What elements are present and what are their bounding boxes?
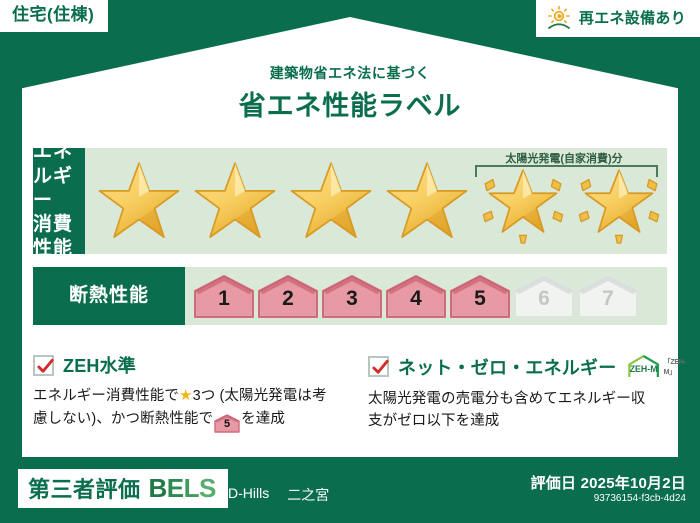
inline-insulation-chip: 5 xyxy=(214,414,240,433)
insulation-level-3: 3 xyxy=(321,273,383,319)
bottom-bar: 第三者評価 BELS D-Hills 二之宮 評価日 2025年10月2日 93… xyxy=(0,457,700,523)
insulation-level-2: 2 xyxy=(257,273,319,319)
energy-label-line2: 消費性能 xyxy=(33,213,85,262)
insulation-level-4: 4 xyxy=(385,273,447,319)
bels-wordmark: BELS xyxy=(149,475,216,501)
insulation-level-4-value: 4 xyxy=(410,288,422,319)
insulation-level-6: 6 xyxy=(513,273,575,319)
insulation-levels-area: 1 2 3 4 xyxy=(185,267,667,325)
evaluation-id: 93736154-f3cb-4d24 xyxy=(594,493,686,504)
bels-letter-s: S xyxy=(199,473,216,503)
insulation-level-5: 5 xyxy=(449,273,511,319)
star-icon xyxy=(288,158,374,244)
solar-portion-caption: 太陽光発電(自家消費)分 xyxy=(469,150,659,166)
insulation-level-7-value: 7 xyxy=(602,288,614,319)
renewable-energy-badge: 再エネ設備あり xyxy=(536,0,700,37)
zeh-m-house-icon: ZEH-M xyxy=(626,352,661,381)
energy-consumption-row-label: エネルギー 消費性能 xyxy=(33,148,85,254)
energy-stars-area: 太陽光発電(自家消費)分 xyxy=(85,148,667,254)
zeh-checkbox[interactable] xyxy=(33,355,54,376)
criteria-zeh: ZEH水準 エネルギー消費性能で★3つ (太陽光発電は考慮しない)、かつ断熱性能… xyxy=(33,352,350,433)
insulation-row-label: 断熱性能 xyxy=(33,267,185,325)
criteria-net-zero-header: ネット・ゼロ・エネルギー ZEH-M 「ZEH-M」 xyxy=(368,352,657,381)
net-zero-checkbox[interactable] xyxy=(368,356,389,377)
insulation-level-3-value: 3 xyxy=(346,288,358,319)
sun-renewable-icon xyxy=(546,5,572,31)
inline-chip-value: 5 xyxy=(214,414,240,435)
criteria-net-zero: ネット・ゼロ・エネルギー ZEH-M 「ZEH-M」 太陽光発電の売電分も含めて… xyxy=(350,352,667,433)
bels-letter-l: L xyxy=(184,473,199,503)
evaluation-date: 評価日 2025年10月2日 xyxy=(531,472,686,493)
building-identity: D-Hills 二之宮 xyxy=(228,485,329,505)
energy-star-4 xyxy=(379,151,475,251)
energy-star-1 xyxy=(91,151,187,251)
insulation-label-text: 断熱性能 xyxy=(69,284,149,308)
zeh-desc-pre: エネルギー消費性能で xyxy=(33,388,179,404)
star-icon xyxy=(384,158,470,244)
check-icon xyxy=(36,357,55,376)
building-type-tag: 住宅(住棟) xyxy=(0,0,108,32)
building-type-label: 住宅(住棟) xyxy=(12,5,94,24)
building-name: D-Hills xyxy=(228,485,269,505)
criteria-section: ZEH水準 エネルギー消費性能で★3つ (太陽光発電は考慮しない)、かつ断熱性能… xyxy=(33,352,667,433)
star-icon xyxy=(96,158,182,244)
star-icon xyxy=(192,158,278,244)
insulation-level-5-value: 5 xyxy=(474,288,486,319)
label-title: 省エネ性能ラベル xyxy=(0,84,700,123)
energy-performance-label: 住宅(住棟) 再エネ設備あり 建築物省エネ法に基づく 省エネ性能ラベル エネルギ… xyxy=(0,0,700,523)
third-party-eval-label: 第三者評価 xyxy=(28,472,141,504)
net-zero-title: ネット・ゼロ・エネルギー xyxy=(398,354,616,380)
renewable-badge-label: 再エネ設備あり xyxy=(579,11,686,26)
bels-letter-b: B xyxy=(149,473,167,503)
inline-star-icon: ★ xyxy=(179,387,193,404)
energy-consumption-row: エネルギー 消費性能 太陽光発電(自家消費)分 xyxy=(33,148,667,254)
insulation-level-1-value: 1 xyxy=(218,288,230,319)
label-subtitle: 建築物省エネ法に基づく xyxy=(0,63,700,83)
solar-portion-bracket xyxy=(475,165,658,177)
insulation-level-6-value: 6 xyxy=(538,288,550,319)
energy-label-line1: エネルギー xyxy=(33,140,85,213)
zeh-m-caption: 「ZEH-M」 xyxy=(664,357,693,377)
evaluation-date-label: 評価日 xyxy=(531,475,577,492)
zeh-title: ZEH水準 xyxy=(63,352,136,378)
criteria-zeh-header: ZEH水準 xyxy=(33,352,340,378)
unit-name: 二之宮 xyxy=(287,485,329,505)
bels-badge: 第三者評価 BELS xyxy=(18,469,228,508)
zeh-desc-post: を達成 xyxy=(241,411,285,427)
energy-star-3 xyxy=(283,151,379,251)
insulation-level-2-value: 2 xyxy=(282,288,294,319)
insulation-level-1: 1 xyxy=(193,273,255,319)
evaluation-date-value: 2025年10月2日 xyxy=(581,475,686,492)
energy-star-2 xyxy=(187,151,283,251)
zeh-description: エネルギー消費性能で★3つ (太陽光発電は考慮しない)、かつ断熱性能で5を達成 xyxy=(33,385,340,433)
zeh-m-logo: ZEH-M 「ZEH-M」 xyxy=(626,352,692,381)
check-icon xyxy=(371,358,390,377)
insulation-level-7: 7 xyxy=(577,273,639,319)
svg-text:ZEH-M: ZEH-M xyxy=(630,364,658,374)
net-zero-description: 太陽光発電の売電分も含めてエネルギー収支がゼロ以下を達成 xyxy=(368,388,657,432)
insulation-performance-row: 断熱性能 1 2 xyxy=(33,267,667,325)
bels-letter-e: E xyxy=(167,473,184,503)
